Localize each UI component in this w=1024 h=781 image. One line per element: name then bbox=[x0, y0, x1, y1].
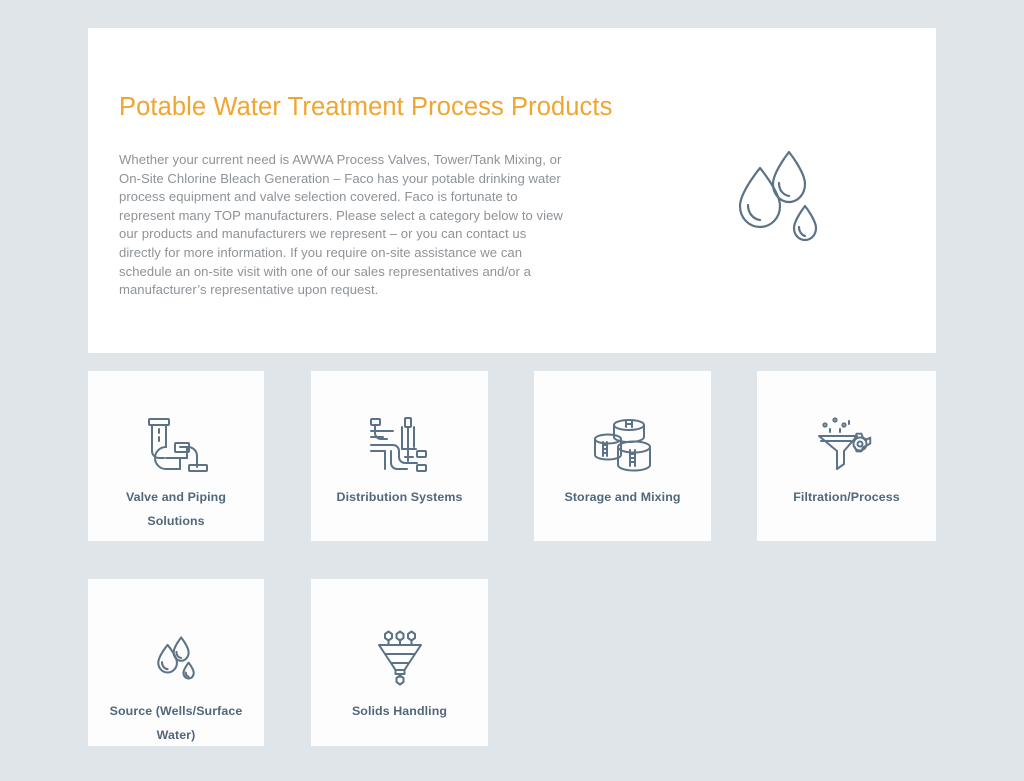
category-card-filtration-process[interactable]: Filtration/Process bbox=[757, 371, 936, 541]
water-droplets-icon bbox=[88, 627, 264, 689]
category-card-label: Source (Wells/Surface Water) bbox=[98, 699, 254, 746]
water-droplets-icon bbox=[718, 136, 838, 256]
storage-tanks-icon bbox=[534, 413, 711, 475]
category-card-label: Solids Handling bbox=[321, 699, 478, 723]
category-card-solids-handling[interactable]: Solids Handling bbox=[311, 579, 488, 746]
pipe-network-icon bbox=[311, 413, 488, 475]
funnel-gear-icon bbox=[757, 413, 936, 475]
category-card-valve-and-piping-solutions[interactable]: Valve and Piping Solutions bbox=[88, 371, 264, 541]
category-card-label: Valve and Piping Solutions bbox=[98, 485, 254, 533]
category-card-distribution-systems[interactable]: Distribution Systems bbox=[311, 371, 488, 541]
category-card-storage-and-mixing[interactable]: Storage and Mixing bbox=[534, 371, 711, 541]
funnel-particles-icon bbox=[311, 627, 488, 689]
category-card-source-wells-surface-water[interactable]: Source (Wells/Surface Water) bbox=[88, 579, 264, 746]
pipe-trap-icon bbox=[88, 413, 264, 475]
hero-panel: Potable Water Treatment Process Products… bbox=[88, 28, 936, 353]
hero-description: Whether your current need is AWWA Proces… bbox=[119, 151, 571, 300]
category-card-label: Distribution Systems bbox=[321, 485, 478, 509]
page-title: Potable Water Treatment Process Products bbox=[119, 93, 612, 122]
page-root: Potable Water Treatment Process Products… bbox=[0, 0, 1024, 781]
category-card-label: Storage and Mixing bbox=[544, 485, 701, 509]
category-card-label: Filtration/Process bbox=[767, 485, 926, 509]
